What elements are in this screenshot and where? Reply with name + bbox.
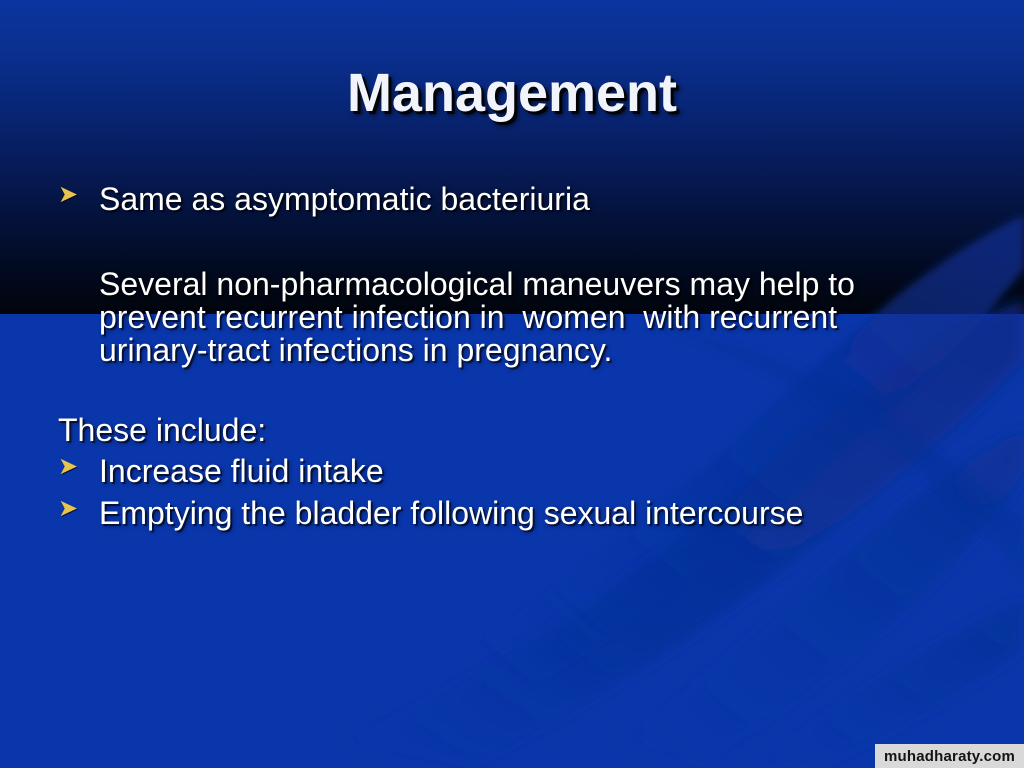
arrow-bullet-icon: ➤: [58, 497, 82, 521]
arrow-bullet-icon: ➤: [58, 455, 82, 479]
presentation-slide: Management ➤ Same as asymptomatic bacter…: [0, 0, 1024, 768]
arrow-bullet-icon: ➤: [58, 183, 82, 207]
lead-in-label: These include:: [58, 414, 266, 446]
watermark-label: muhadharaty.com: [884, 748, 1015, 765]
paragraph-line-2: prevent recurrent infection in women wit…: [99, 301, 837, 333]
slide-body: ➤ Same as asymptomatic bacteriuria Sever…: [0, 0, 1024, 768]
watermark-badge: muhadharaty.com: [875, 744, 1024, 768]
list-item-label: Increase fluid intake: [99, 455, 384, 487]
list-item-label: Emptying the bladder following sexual in…: [99, 497, 803, 529]
list-item-label: Same as asymptomatic bacteriuria: [99, 183, 590, 215]
paragraph-line-1: Several non-pharmacological maneuvers ma…: [99, 268, 855, 300]
paragraph-line-3: urinary-tract infections in pregnancy.: [99, 334, 612, 366]
